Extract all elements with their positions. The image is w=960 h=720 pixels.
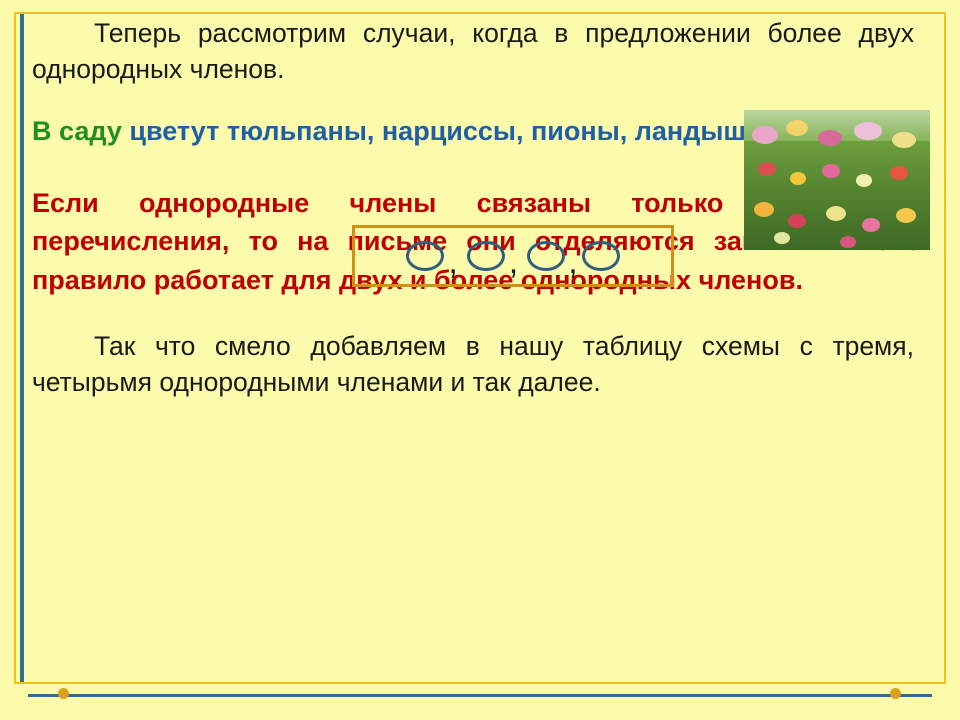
left-accent-bar <box>20 14 24 682</box>
photo-flower <box>862 218 880 232</box>
photo-ground <box>744 141 930 250</box>
scheme-member-4 <box>582 241 620 271</box>
slide: Теперь рассмотрим случаи, когда в предло… <box>0 0 960 720</box>
comma-separator: , <box>565 245 581 279</box>
scheme-diagram: , , , <box>352 225 674 287</box>
photo-flower <box>754 202 774 217</box>
decorative-dot-right <box>890 688 901 699</box>
photo-flower <box>790 172 806 185</box>
decorative-dot-left <box>58 688 69 699</box>
photo-flower <box>822 164 840 178</box>
photo-flower <box>856 174 872 187</box>
circle-icon <box>406 241 444 271</box>
photo-flower <box>826 206 846 221</box>
comma-separator: , <box>444 245 466 279</box>
scheme-member-2: , <box>467 239 527 273</box>
photo-flower <box>818 130 842 146</box>
example-blue-part: цветут тюльпаны, нарциссы, пионы, ландыш… <box>129 116 770 146</box>
photo-flower <box>840 236 856 248</box>
photo-flower <box>890 166 908 180</box>
flower-garden-photo <box>744 110 930 250</box>
comma-separator: , <box>505 245 527 279</box>
photo-flower <box>892 132 916 148</box>
photo-flower <box>854 122 882 140</box>
scheme-member-3: , <box>527 239 581 273</box>
scheme-member-1: , <box>406 239 466 273</box>
bottom-divider <box>28 694 932 697</box>
example-green-part: В саду <box>32 116 129 146</box>
photo-flower <box>896 208 916 223</box>
photo-flower <box>752 126 778 144</box>
photo-flower <box>774 232 790 244</box>
circle-icon <box>527 241 565 271</box>
photo-flower <box>788 214 806 228</box>
photo-flower <box>786 120 808 136</box>
intro-paragraph: Теперь рассмотрим случаи, когда в предло… <box>32 16 932 88</box>
circle-icon <box>467 241 505 271</box>
photo-flower <box>758 162 776 176</box>
closing-paragraph: Так что смело добавляем в нашу таблицу с… <box>32 329 932 401</box>
circle-icon <box>582 241 620 271</box>
